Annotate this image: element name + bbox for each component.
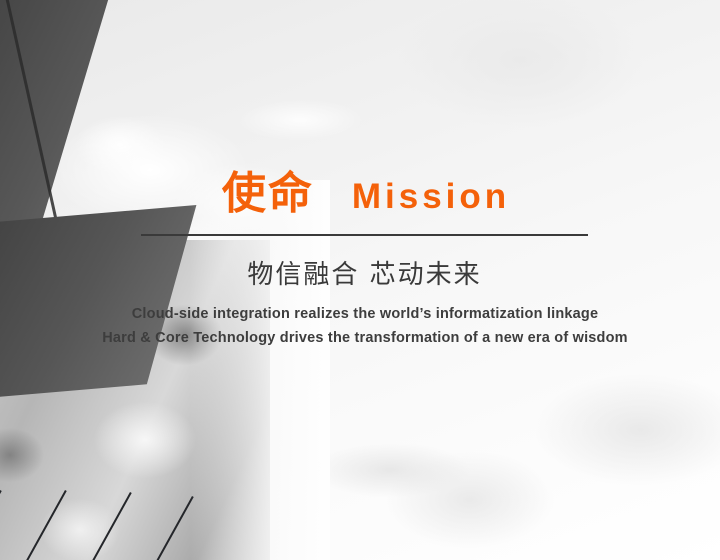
page-title-english: Mission [352,179,510,214]
tagline-line-1: Cloud-side integration realizes the worl… [60,302,670,326]
title-divider [141,234,588,236]
banner-title: 使命 Mission [141,172,591,216]
page-title-chinese: 使命 [222,172,314,216]
banner-content: 使命 Mission 物信融合 芯动未来 Cloud-side integrat… [0,0,720,560]
tagline-line-2: Hard & Core Technology drives the transf… [60,326,670,350]
subtitle-chinese: 物信融合 芯动未来 [141,258,588,292]
tagline-block: Cloud-side integration realizes the worl… [60,302,670,350]
mission-banner: 使命 Mission 物信融合 芯动未来 Cloud-side integrat… [0,0,720,560]
